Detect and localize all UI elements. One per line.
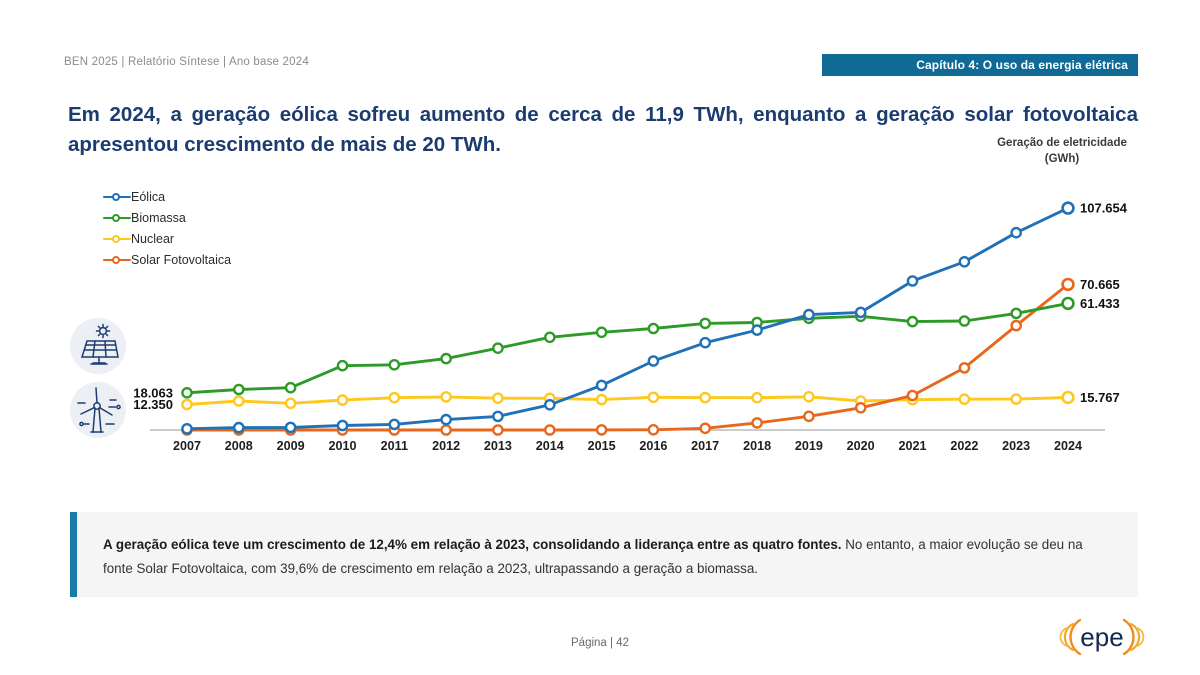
data-point [182,424,191,433]
data-point [234,423,243,432]
solar-panel-icon [70,318,126,374]
x-axis-tick-label: 2015 [588,439,616,453]
data-point [960,257,969,266]
start-value-label: 18.063 [133,385,173,400]
series-eólica [182,204,1072,434]
data-point [545,333,554,342]
page-title: Em 2024, a geração eólica sofreu aumento… [68,100,1138,161]
callout-bold-text: A geração eólica teve um crescimento de … [103,537,842,552]
series-solar-fotovoltaica [182,280,1072,435]
end-data-point [1063,279,1074,290]
data-point [597,381,606,390]
legend-marker-eolica [103,191,131,203]
data-point [390,425,399,434]
data-point [908,317,917,326]
data-point [493,425,502,434]
x-axis-tick-label: 2011 [381,439,408,453]
callout-text: A geração eólica teve um crescimento de … [103,533,1113,581]
x-axis-tick-label: 2021 [898,439,926,453]
data-point [442,425,451,434]
data-point [597,328,606,337]
data-point [753,418,762,427]
legend-item-biomassa[interactable]: Biomassa [103,207,231,228]
document-reference: BEN 2025 | Relatório Síntese | Ano base … [64,56,309,68]
data-point [908,395,917,404]
data-point [1012,395,1021,404]
data-point [856,308,865,317]
data-point [753,393,762,402]
data-point [701,393,710,402]
data-point [701,338,710,347]
x-axis-tick-label: 2022 [950,439,978,453]
data-point [442,354,451,363]
data-point [701,424,710,433]
data-point [856,312,865,321]
x-axis-tick-label: 2008 [225,439,253,453]
data-point [597,395,606,404]
data-point [649,393,658,402]
legend-marker-nuclear [103,233,131,245]
legend-marker-solar [103,254,131,266]
callout-accent-bar [70,512,77,597]
data-point [338,425,347,434]
x-axis-tick-label: 2009 [277,439,305,453]
x-axis-tick-label: 2017 [691,439,719,453]
legend-marker-biomassa [103,212,131,224]
data-point [1012,321,1021,330]
data-point [286,383,295,392]
data-point [545,400,554,409]
data-point [545,394,554,403]
data-point [753,318,762,327]
data-point [856,396,865,405]
page-number: Página | 42 [0,637,1200,649]
data-point [234,385,243,394]
data-point [908,391,917,400]
data-point [804,314,813,323]
x-axis-tick-label: 2020 [847,439,875,453]
data-point [338,421,347,430]
data-point [545,425,554,434]
data-point [286,425,295,434]
data-point [753,326,762,335]
legend-item-eolica[interactable]: Eólica [103,186,231,207]
data-point [701,319,710,328]
data-point [338,396,347,405]
data-point [1063,299,1072,308]
data-point [1012,228,1021,237]
end-value-label: 61.433 [1080,296,1120,311]
x-axis-tick-label: 2024 [1054,439,1082,453]
x-axis-tick-label: 2019 [795,439,823,453]
data-point [960,316,969,325]
data-point [234,425,243,434]
x-axis-tick-label: 2014 [536,439,564,453]
data-point [390,420,399,429]
data-point [804,412,813,421]
x-axis-tick-label: 2023 [1002,439,1030,453]
x-axis-tick-label: 2018 [743,439,771,453]
data-point [960,363,969,372]
x-axis-tick-label: 2016 [639,439,667,453]
legend-label-eolica: Eólica [131,190,165,204]
y-axis-unit-label: Geração de eletricidade (GWh) [982,136,1142,167]
legend-label-nuclear: Nuclear [131,232,174,246]
insight-callout: A geração eólica teve um crescimento de … [70,512,1138,597]
wind-turbine-icon [70,382,126,438]
data-point [1063,280,1072,289]
data-point [493,344,502,353]
series-nuclear [182,392,1072,409]
start-value-label: 12.350 [133,397,173,412]
end-data-point [1063,298,1074,309]
end-value-label: 70.665 [1080,277,1120,292]
data-point [234,396,243,405]
data-point [286,423,295,432]
series-biomassa [182,299,1072,398]
data-point [493,394,502,403]
data-point [182,400,191,409]
end-value-label: 107.654 [1080,201,1128,216]
data-point [649,324,658,333]
legend-item-nuclear[interactable]: Nuclear [103,228,231,249]
x-axis-tick-label: 2010 [328,439,356,453]
end-data-point [1063,203,1074,214]
data-point [908,276,917,285]
chart-legend: Eólica Biomassa Nuclear Solar Fotovoltai… [103,186,231,270]
legend-label-biomassa: Biomassa [131,211,186,225]
data-point [182,388,191,397]
data-point [597,425,606,434]
data-point [442,392,451,401]
legend-label-solar: Solar Fotovoltaica [131,253,231,267]
data-point [493,412,502,421]
data-point [856,403,865,412]
data-point [338,361,347,370]
x-axis-tick-label: 2007 [173,439,201,453]
epe-logo-text: epe [1080,622,1123,652]
data-point [649,356,658,365]
end-value-label: 15.767 [1080,390,1120,405]
data-point [1063,393,1072,402]
data-point [1012,309,1021,318]
x-axis-tick-label: 2012 [432,439,460,453]
chapter-badge: Capítulo 4: O uso da energia elétrica [822,54,1138,76]
data-point [286,399,295,408]
data-point [182,425,191,434]
data-point [442,415,451,424]
data-point [804,392,813,401]
data-point [390,393,399,402]
data-point [1063,204,1072,213]
x-axis-tick-label: 2013 [484,439,512,453]
data-point [960,395,969,404]
data-point [649,425,658,434]
epe-logo: epe [1046,612,1158,662]
data-point [804,310,813,319]
legend-item-solar[interactable]: Solar Fotovoltaica [103,249,231,270]
data-point [390,360,399,369]
end-data-point [1063,392,1074,403]
